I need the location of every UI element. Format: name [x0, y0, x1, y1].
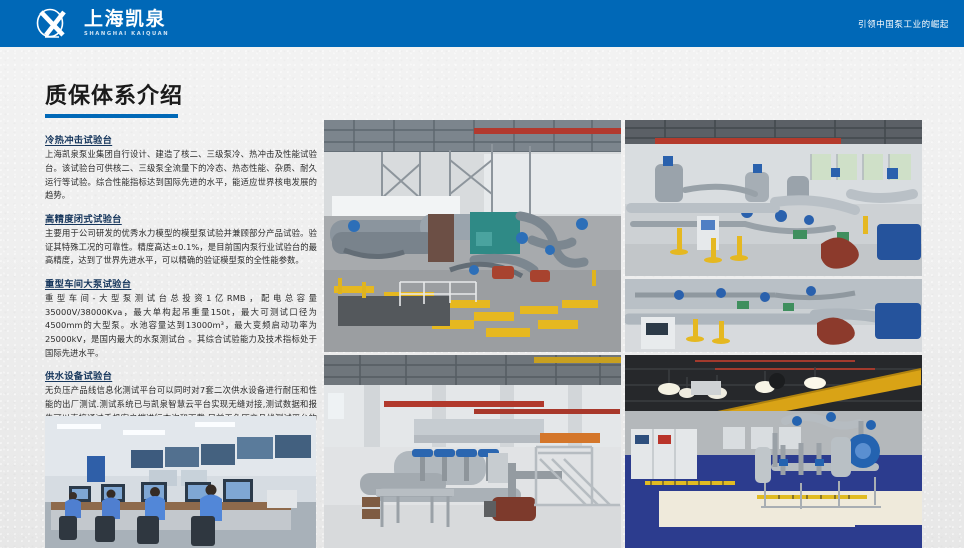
text-column: 质保体系介绍 冷热冲击试验台 上海凯泉泵业集团自行设计、建造了核二、三级泵冷、热… — [45, 85, 317, 447]
kaiquan-monogram-icon — [33, 8, 77, 40]
slide-body: 质保体系介绍 冷热冲击试验台 上海凯泉泵业集团自行设计、建造了核二、三级泵冷、热… — [0, 47, 964, 548]
heavy-workshop-large-pump-test-photo — [324, 355, 621, 548]
slide-header: 上海凯泉 SHANGHAI KAIQUAN 引领中国泵工业的崛起 — [0, 0, 964, 47]
section-high-precision-closed: 高精度闭式试验台 主要用于公司研发的优秀水力模型的模型泵试验并兼顾部分产品试验。… — [45, 211, 317, 268]
brand-name-en: SHANGHAI KAIQUAN — [84, 32, 169, 37]
section-cold-hot-shock: 冷热冲击试验台 上海凯泉泵业集团自行设计、建造了核二、三级泵冷、热冲击及性能试验… — [45, 132, 317, 203]
section-heading: 重型车间大泵试验台 — [45, 276, 317, 290]
closed-loop-test-lab-photo — [625, 120, 922, 276]
title-underline-rule — [45, 114, 178, 118]
section-body: 主要用于公司研发的优秀水力模型的模型泵试验并兼顾部分产品试验。验证其特殊工况的可… — [45, 227, 317, 268]
section-heavy-workshop-pump: 重型车间大泵试验台 重型车间-大型泵测试台总投资1亿RMB，配电总容量35000… — [45, 276, 317, 360]
control-cabinet-photo — [625, 279, 922, 352]
section-body: 上海凯泉泵业集团自行设计、建造了核二、三级泵冷、热冲击及性能试验台。该试验台可供… — [45, 148, 317, 203]
brand-wordmark: 上海凯泉 SHANGHAI KAIQUAN — [84, 10, 169, 37]
section-body: 重型车间-大型泵测试台总投资1亿RMB，配电总容量35000V/38000Kva… — [45, 292, 317, 360]
water-supply-equipment-test-photo — [625, 355, 922, 548]
header-slogan: 引领中国泵工业的崛起 — [858, 18, 949, 30]
slide-root: 上海凯泉 SHANGHAI KAIQUAN 引领中国泵工业的崛起 质保体系介绍 … — [0, 0, 964, 548]
section-heading: 高精度闭式试验台 — [45, 211, 317, 225]
page-title: 质保体系介绍 — [45, 85, 317, 109]
section-heading: 供水设备试验台 — [45, 368, 317, 382]
brand-logo: 上海凯泉 SHANGHAI KAIQUAN — [33, 8, 169, 40]
section-heading: 冷热冲击试验台 — [45, 132, 317, 146]
cold-hot-shock-test-hall-photo — [324, 120, 621, 352]
control-room-photo — [45, 416, 316, 548]
brand-name-cn: 上海凯泉 — [84, 10, 169, 29]
